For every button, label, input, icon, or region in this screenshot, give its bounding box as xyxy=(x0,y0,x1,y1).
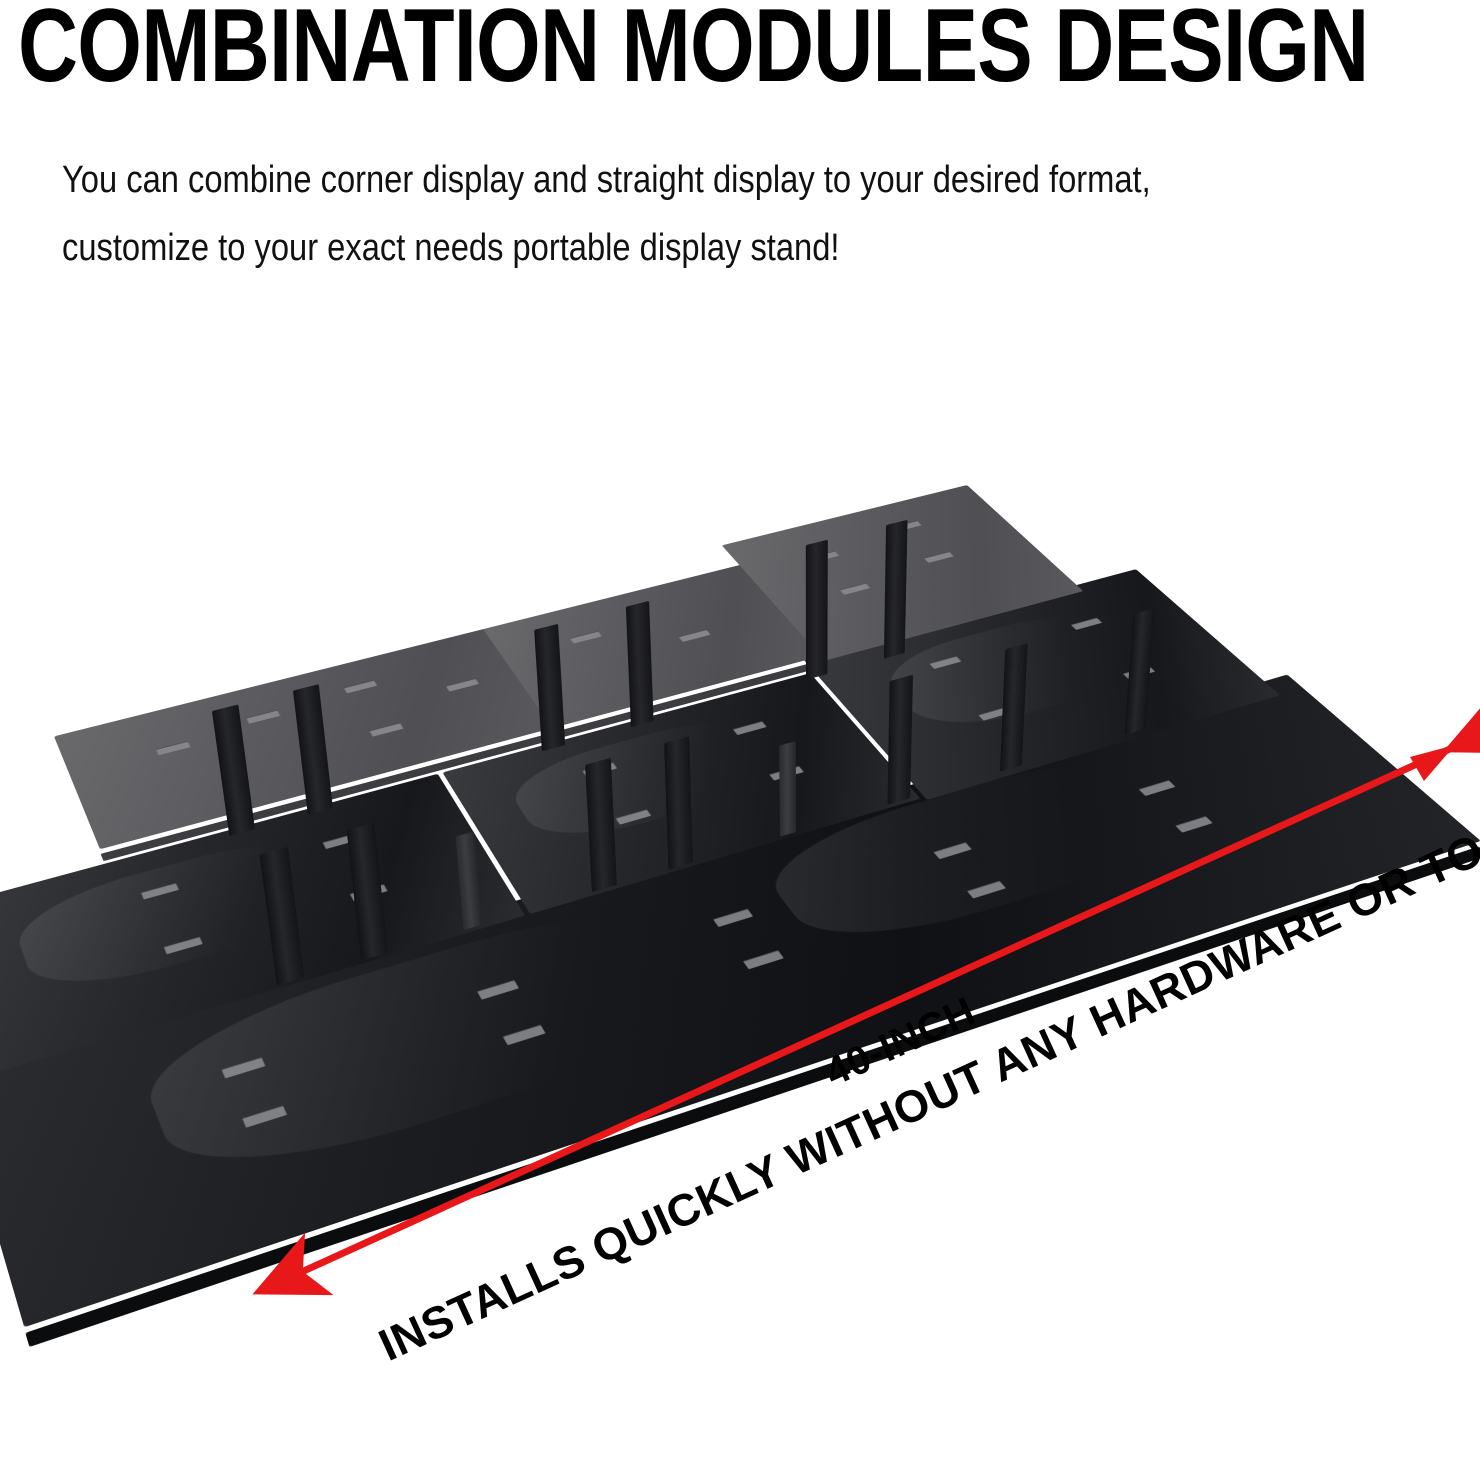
slot-cutout xyxy=(446,678,480,691)
slot-cutout xyxy=(242,1105,287,1127)
riser-leg xyxy=(664,736,693,869)
slot-cutout xyxy=(733,721,767,735)
mid-left-surface xyxy=(0,774,525,1075)
subtitle-paragraph: You can combine corner display and strai… xyxy=(62,146,1232,282)
slot-cutout xyxy=(1071,618,1103,630)
subtitle-line-2: customize to your exact needs portable d… xyxy=(62,214,1232,282)
riser-leg xyxy=(884,520,908,659)
subtitle-line-1: You can combine corner display and strai… xyxy=(62,146,1232,214)
slot-cutout xyxy=(164,937,203,955)
slot-cutout xyxy=(743,950,784,969)
page-title: COMBINATION MODULES DESIGN xyxy=(18,0,1178,102)
slot-cutout xyxy=(1175,816,1213,833)
slot-cutout xyxy=(929,656,962,669)
slot-cutout xyxy=(477,980,519,1000)
slot-cutout xyxy=(967,881,1006,899)
slot-cutout xyxy=(713,909,753,927)
riser-leg xyxy=(887,675,913,805)
riser-brace xyxy=(779,741,796,837)
slot-cutout xyxy=(839,583,870,595)
slot-cutout xyxy=(678,629,710,642)
slot-cutout xyxy=(344,680,378,693)
slot-cutout xyxy=(369,723,404,737)
slot-cutout xyxy=(1139,780,1176,796)
slot-cutout xyxy=(570,631,602,644)
slot-cutout xyxy=(221,1057,265,1078)
slot-cutout xyxy=(615,809,651,824)
slot-cutout xyxy=(503,1025,546,1046)
riser-leg xyxy=(626,601,654,728)
slot-cutout xyxy=(246,710,280,724)
tier-mid-left xyxy=(0,774,525,1075)
slot-cutout xyxy=(155,741,190,755)
slot-cutout xyxy=(141,883,179,900)
slot-cutout xyxy=(924,552,954,563)
slot-cutout xyxy=(933,842,972,859)
